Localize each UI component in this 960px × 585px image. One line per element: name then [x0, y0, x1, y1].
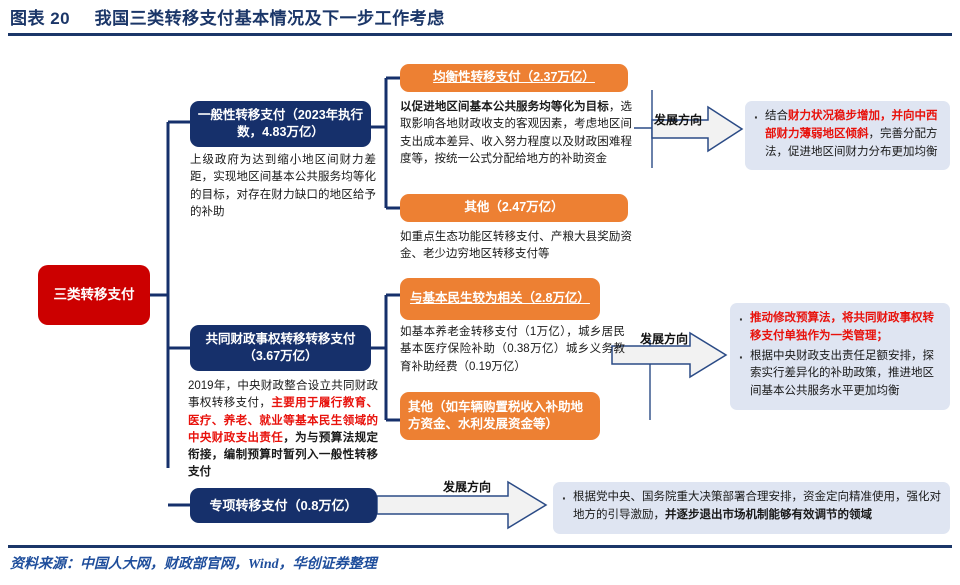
source-note: 资料来源：中国人大网，财政部官网，Wind，华创证券整理	[10, 553, 377, 573]
branch-node-special[interactable]: 专项转移支付（0.8万亿）	[190, 488, 377, 523]
subbox-balanced-transfer-label: 均衡性转移支付（2.37万亿）	[433, 69, 595, 87]
branch-general-description-text: 上级政府为达到缩小地区间财力差距，实现地区间基本公共服务均等化的目标，对存在财力…	[190, 154, 376, 218]
branch-general-description: 上级政府为达到缩小地区间财力差距，实现地区间基本公共服务均等化的目标，对存在财力…	[190, 152, 376, 221]
branch-node-general[interactable]: 一般性转移支付（2023年执行数，4.83万亿）	[190, 101, 371, 147]
outcome-item: 推动修改预算法，将共同财政事权转移支付单独作为一类管理；	[737, 310, 941, 346]
subbox-general-other-detail: 如重点生态功能区转移支付、产粮大县奖励资金、老少边穷地区转移支付等	[400, 229, 632, 264]
subbox-shared-other[interactable]: 其他（如车辆购置税收入补助地方资金、水利发展资金等）	[400, 392, 600, 440]
outcome-highlight: 推动修改预算法，将共同财政事权转移支付单独作为一类管理；	[750, 312, 934, 342]
outcome-panel-shared: 推动修改预算法，将共同财政事权转移支付单独作为一类管理； 根据中央财政支出责任足…	[730, 303, 950, 410]
outcome-item: 结合财力状况稳步增加，并向中西部财力薄弱地区倾斜，完善分配方法，促进地区间财力分…	[752, 108, 941, 161]
outcome-item: 根据中央财政支出责任足额安排，探索实行差异化的补助政策，推进地区间基本公共服务水…	[737, 348, 941, 401]
subbox-livelihood-related-detail: 如基本养老金转移支付（1万亿），城乡居民基本医疗保险补助（0.38万亿）城乡义务…	[400, 324, 625, 376]
figure-title-text: 我国三类转移支付基本情况及下一步工作考虑	[95, 9, 445, 28]
page-title: 图表 20 我国三类转移支付基本情况及下一步工作考虑	[10, 4, 445, 29]
branch-node-shared[interactable]: 共同财政事权转移转移支付（3.67万亿）	[190, 325, 371, 371]
arrow-label-shared: 发展方向	[640, 330, 688, 347]
outcome-panel-general: 结合财力状况稳步增加，并向中西部财力薄弱地区倾斜，完善分配方法，促进地区间财力分…	[745, 101, 950, 170]
subbox-balanced-transfer[interactable]: 均衡性转移支付（2.37万亿）	[400, 64, 628, 92]
subbox-livelihood-related[interactable]: 与基本民生较为相关（2.8万亿）	[400, 278, 600, 320]
figure-label: 图表 20	[10, 9, 70, 28]
subbox-general-other-detail-rest: 如重点生态功能区转移支付、产粮大县奖励资金、老少边穷地区转移支付等	[400, 231, 632, 260]
subbox-livelihood-related-label: 与基本民生较为相关（2.8万亿）	[410, 290, 590, 308]
outcome-pre: 根据中央财政支出责任足额安排，探索实行差异化的补助政策，推进地区间基本公共服务水…	[750, 350, 934, 398]
subbox-livelihood-related-detail-rest: 如基本养老金转移支付（1万亿），城乡居民基本医疗保险补助（0.38万亿）城乡义务…	[400, 326, 625, 373]
root-node-label: 三类转移支付	[54, 286, 135, 304]
header-divider	[8, 33, 952, 36]
source-note-text: 资料来源：中国人大网，财政部官网，Wind，华创证券整理	[10, 557, 377, 572]
figure-header: 图表 20 我国三类转移支付基本情况及下一步工作考虑	[0, 0, 960, 36]
outcome-panel-special: 根据党中央、国务院重大决策部署合理安排，资金定向精准使用，强化对地方的引导激励，…	[553, 482, 950, 534]
subbox-balanced-transfer-detail: 以促进地区间基本公共服务均等化为目标，选取影响各地财政收支的客观因素，考虑地区间…	[400, 99, 632, 168]
arrow-label-special-text: 发展方向	[443, 480, 491, 494]
subbox-general-other-label: 其他（2.47万亿）	[464, 199, 563, 217]
outcome-pre: 结合	[765, 110, 788, 122]
arrow-label-special: 发展方向	[443, 478, 491, 495]
branch-node-general-label: 一般性转移支付（2023年执行数，4.83万亿）	[196, 107, 365, 141]
subbox-general-other[interactable]: 其他（2.47万亿）	[400, 194, 628, 222]
subbox-balanced-transfer-detail-bold: 以促进地区间基本公共服务均等化为目标	[400, 101, 609, 113]
branch-node-shared-label: 共同财政事权转移转移支付（3.67万亿）	[196, 331, 365, 365]
arrow-label-shared-text: 发展方向	[640, 332, 688, 346]
root-node[interactable]: 三类转移支付	[38, 265, 150, 325]
footer-divider	[8, 545, 952, 548]
subbox-shared-other-label: 其他（如车辆购置税收入补助地方资金、水利发展资金等）	[408, 399, 592, 434]
outcome-item: 根据党中央、国务院重大决策部署合理安排，资金定向精准使用，强化对地方的引导激励，…	[560, 489, 941, 525]
arrow-label-general-text: 发展方向	[654, 113, 702, 127]
branch-shared-description: 2019年，中央财政整合设立共同财政事权转移支付，主要用于履行教育、医疗、养老、…	[188, 378, 378, 482]
arrow-label-general: 发展方向	[654, 111, 702, 128]
branch-node-special-label: 专项转移支付（0.8万亿）	[209, 497, 357, 515]
outcome-bold-tail: 并逐步退出市场机制能够有效调节的领域	[665, 509, 872, 521]
